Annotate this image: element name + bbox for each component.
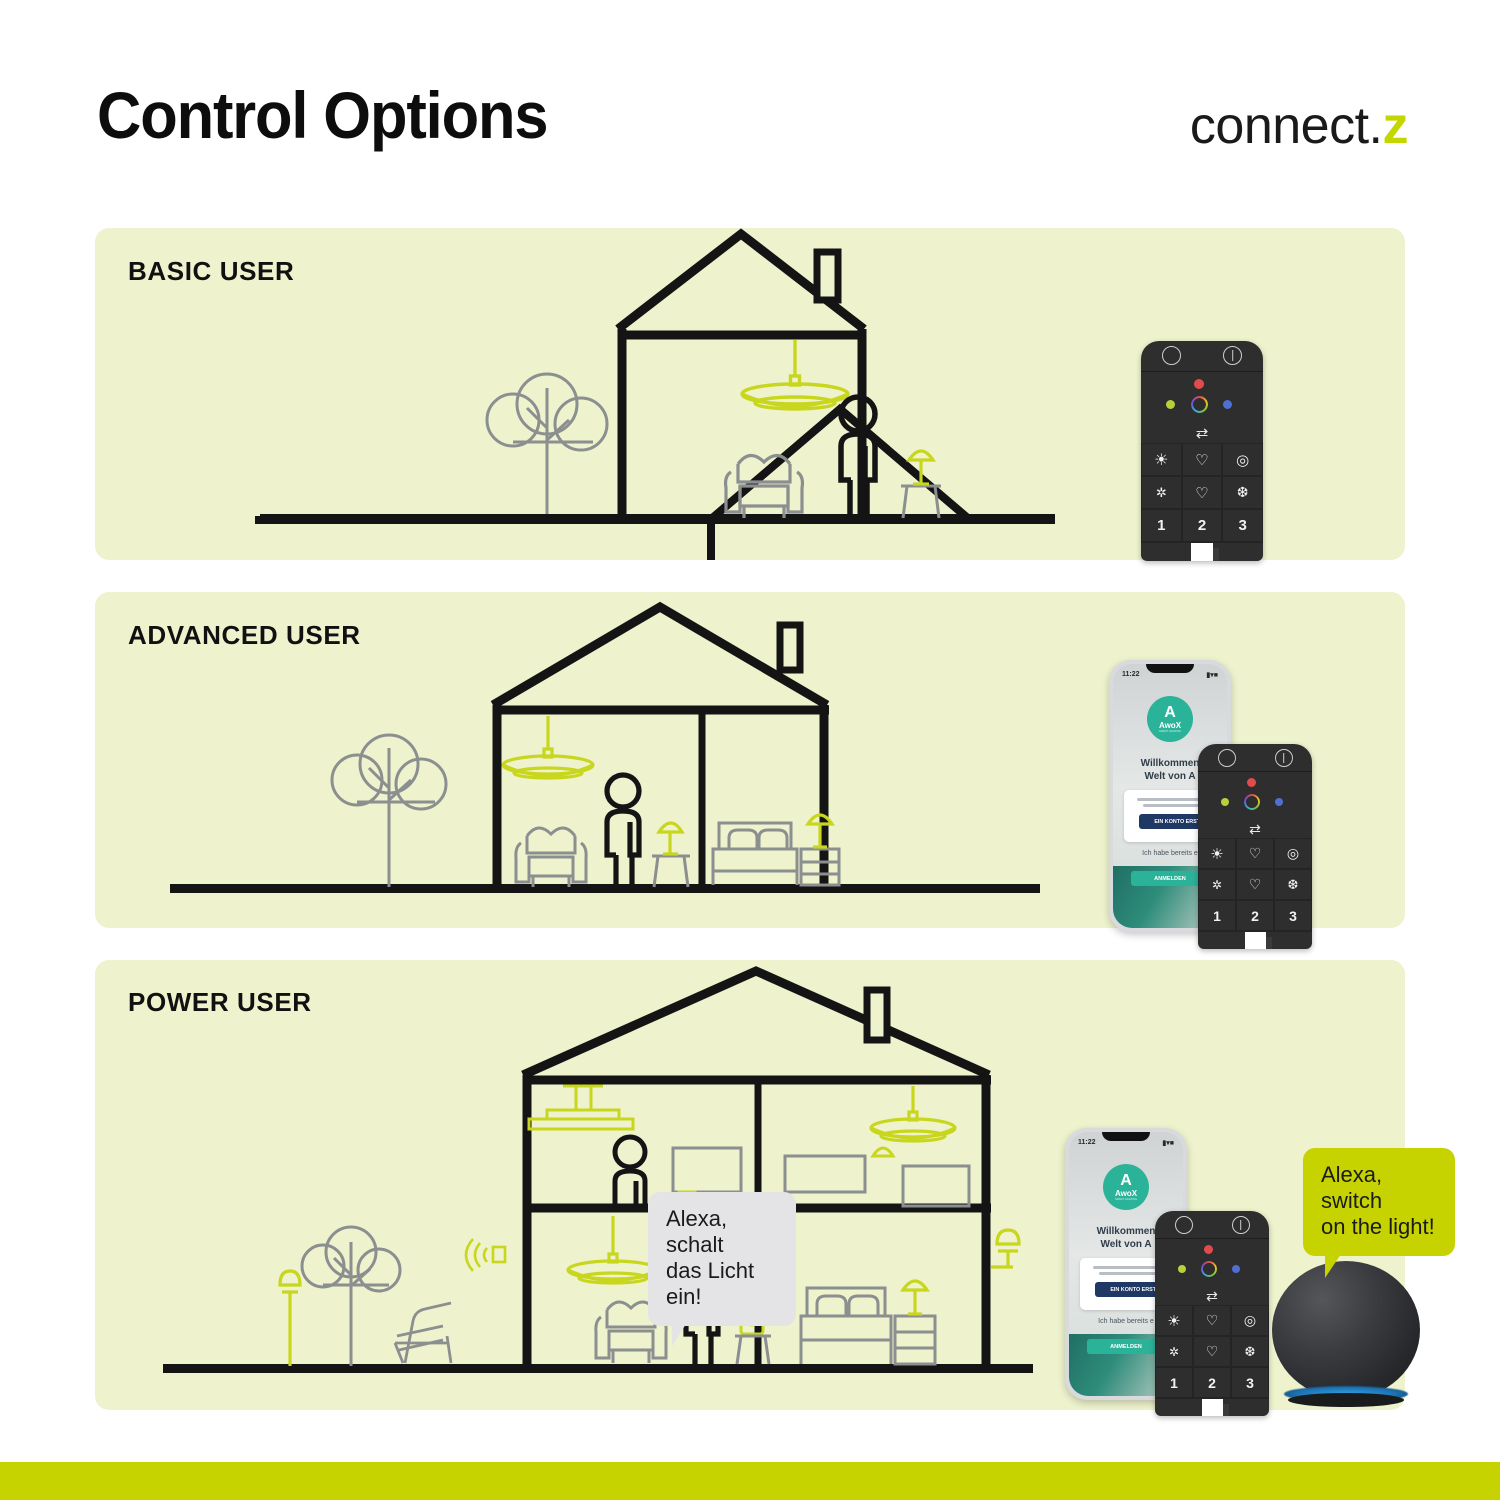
brightness-down-icon[interactable]: ✲ (1141, 476, 1182, 509)
preset-key-1[interactable]: 1 (1198, 900, 1236, 931)
color-dot-blue-icon[interactable] (1232, 1265, 1240, 1273)
speech-bubble-english: Alexa, switch on the light! (1303, 1148, 1455, 1256)
status-time: 11:22 (1078, 1139, 1096, 1147)
preset-key-1[interactable]: 1 (1155, 1367, 1193, 1398)
outdoor-wall-lamp (991, 1230, 1019, 1267)
color-dot-red-icon[interactable] (1194, 379, 1204, 389)
awox-logo-tagline: SMART LIGHTING (1159, 731, 1181, 734)
loop-repeat-icon[interactable]: ⇄ (1198, 820, 1312, 838)
armchair (516, 828, 586, 887)
snowflake-icon[interactable]: ❆ (1274, 869, 1312, 900)
side-table (901, 486, 941, 518)
phone-status-bar: 11:22 ▮▾■ (1069, 1139, 1183, 1147)
section-panel-basic: BASIC USER (95, 228, 1405, 560)
target-circle-icon[interactable]: ◎ (1222, 443, 1263, 476)
phone-status-bar: 11:22 ▮▾■ (1113, 671, 1227, 679)
awox-logo-mark: A (1164, 705, 1176, 721)
status-signal-icon: ▮▾■ (1162, 1139, 1174, 1147)
ceiling-fan-lamp (529, 1086, 633, 1129)
color-dot-red-icon[interactable] (1204, 1245, 1213, 1254)
garden-lamp (280, 1271, 300, 1366)
chimney (867, 990, 887, 1040)
stool (735, 1336, 771, 1364)
remote-top-row (1155, 1211, 1269, 1239)
remote-brand-area (1198, 931, 1312, 949)
section-panel-advanced: ADVANCED USER (95, 592, 1405, 928)
color-wheel-icon[interactable] (1244, 794, 1260, 810)
table-lamp-upper (873, 1148, 893, 1156)
remote-color-dots[interactable] (1141, 372, 1263, 424)
pendant-lamp-upper (871, 1086, 955, 1141)
brand-logo: connect.z (1190, 100, 1408, 152)
snowflake-icon[interactable]: ❆ (1222, 476, 1263, 509)
color-dot-red-icon[interactable] (1247, 778, 1256, 787)
remote-keypad[interactable]: ☀ ♡ ◎ ✲ ♡ ❆ 1 2 3 (1141, 443, 1263, 542)
scene-heart-2-icon[interactable]: ♡ (1236, 869, 1274, 900)
chimney (780, 625, 800, 670)
circle-button-icon[interactable] (1175, 1216, 1193, 1234)
power-button-icon[interactable] (1275, 749, 1293, 767)
echo-dot-base (1288, 1393, 1403, 1407)
tree (302, 1227, 400, 1366)
awox-logo-tagline: SMART LIGHTING (1115, 1199, 1137, 1202)
awox-logo-mark: A (1120, 1173, 1132, 1189)
bed-lower (801, 1288, 891, 1364)
circle-button-icon[interactable] (1218, 749, 1236, 767)
speech-bubble-german: Alexa, schalt das Licht ein! (648, 1192, 796, 1326)
wifi-sensor (466, 1239, 505, 1271)
nightstand-lamp-lower (903, 1281, 927, 1314)
person-upper (615, 1137, 645, 1207)
remote-keypad[interactable]: ☀ ♡ ◎ ✲ ♡ ❆ 1 2 3 (1198, 838, 1312, 931)
side-table (652, 856, 690, 887)
circle-button-icon[interactable] (1162, 346, 1181, 365)
signin-button[interactable]: ANMELDEN (1087, 1339, 1165, 1354)
brightness-up-icon[interactable]: ☀ (1141, 443, 1182, 476)
remote-control[interactable]: ⇄ ☀ ♡ ◎ ✲ ♡ ❆ 1 2 3 (1141, 341, 1263, 561)
tree (332, 735, 446, 887)
scene-heart-1-icon[interactable]: ♡ (1182, 443, 1223, 476)
status-time: 11:22 (1122, 671, 1140, 679)
tv (673, 1148, 741, 1197)
bed (713, 823, 797, 885)
preset-key-2[interactable]: 2 (1193, 1367, 1231, 1398)
awox-square-logo-icon (1191, 543, 1213, 561)
chimney (817, 252, 838, 300)
color-dot-green-icon[interactable] (1221, 798, 1229, 806)
scene-heart-2-icon[interactable]: ♡ (1182, 476, 1223, 509)
brand-logo-accent: z (1383, 97, 1409, 155)
scene-heart-1-icon[interactable]: ♡ (1236, 838, 1274, 869)
brightness-up-icon[interactable]: ☀ (1198, 838, 1236, 869)
remote-top-row (1198, 744, 1312, 772)
remote-color-dots[interactable] (1198, 772, 1312, 820)
echo-dot-speaker[interactable] (1272, 1261, 1420, 1399)
pendant-lamp (742, 340, 848, 409)
section-panel-power: POWER USER (95, 960, 1405, 1410)
preset-key-3[interactable]: 3 (1231, 1367, 1269, 1398)
scene-heart-2-icon[interactable]: ♡ (1193, 1336, 1231, 1367)
bottom-accent-bar (0, 1462, 1500, 1500)
brightness-down-icon[interactable]: ✲ (1155, 1336, 1193, 1367)
table-lamp (909, 451, 933, 484)
snowflake-icon[interactable]: ❆ (1231, 1336, 1269, 1367)
color-dot-green-icon[interactable] (1166, 400, 1175, 409)
ground-strip (170, 884, 1040, 893)
brand-logo-text: connect. (1190, 97, 1383, 155)
color-wheel-icon[interactable] (1191, 396, 1208, 413)
target-circle-icon[interactable]: ◎ (1274, 838, 1312, 869)
target-circle-icon[interactable]: ◎ (1231, 1305, 1269, 1336)
awox-logo-word: AwoX (1115, 1190, 1137, 1198)
preset-key-2[interactable]: 2 (1236, 900, 1274, 931)
person (607, 775, 639, 888)
remote-color-dots[interactable] (1155, 1239, 1269, 1287)
loop-repeat-icon[interactable]: ⇄ (1155, 1287, 1269, 1305)
remote-brand-area (1155, 1398, 1269, 1416)
pendant-lamp-lower (568, 1216, 658, 1283)
nightstand-lower (895, 1316, 935, 1364)
armchair (726, 455, 803, 518)
preset-key-3[interactable]: 3 (1222, 509, 1263, 542)
color-dot-blue-icon[interactable] (1275, 798, 1283, 806)
loop-repeat-icon[interactable]: ⇄ (1141, 423, 1263, 443)
power-button-icon[interactable] (1223, 346, 1242, 365)
remote-brand-area (1141, 542, 1263, 561)
power-button-icon[interactable] (1232, 1216, 1250, 1234)
remote-keypad[interactable]: ☀ ♡ ◎ ✲ ♡ ❆ 1 2 3 (1155, 1305, 1269, 1398)
scene-heart-1-icon[interactable]: ♡ (1193, 1305, 1231, 1336)
remote-top-row (1141, 341, 1263, 372)
color-dot-blue-icon[interactable] (1223, 400, 1232, 409)
ground-strip (260, 514, 1055, 523)
awox-app-logo: A AwoX SMART LIGHTING (1103, 1164, 1149, 1210)
awox-logo-word: AwoX (1159, 722, 1181, 730)
remote-control[interactable]: ⇄ ☀ ♡ ◎ ✲ ♡ ❆ 1 2 3 (1198, 744, 1312, 949)
awox-square-logo-icon (1202, 1399, 1223, 1416)
awox-square-logo-icon (1245, 932, 1266, 949)
echo-dot-body (1272, 1261, 1420, 1399)
infographic-page: Control Options connect.z BASIC USER (0, 0, 1500, 1500)
roof-line (523, 971, 989, 1075)
remote-control[interactable]: ⇄ ☀ ♡ ◎ ✲ ♡ ❆ 1 2 3 (1155, 1211, 1269, 1416)
color-wheel-icon[interactable] (1201, 1261, 1217, 1277)
status-signal-icon: ▮▾■ (1206, 671, 1218, 679)
preset-key-2[interactable]: 2 (1182, 509, 1223, 542)
wardrobe (903, 1166, 969, 1206)
brightness-down-icon[interactable]: ✲ (1198, 869, 1236, 900)
bed-upper (785, 1156, 865, 1192)
awox-app-logo: A AwoX SMART LIGHTING (1147, 696, 1193, 742)
brightness-up-icon[interactable]: ☀ (1155, 1305, 1193, 1336)
preset-key-3[interactable]: 3 (1274, 900, 1312, 931)
page-title: Control Options (97, 82, 547, 148)
lounge-chair (395, 1303, 451, 1363)
table-lamp (659, 823, 682, 854)
color-dot-green-icon[interactable] (1178, 1265, 1186, 1273)
preset-key-1[interactable]: 1 (1141, 509, 1182, 542)
pendant-lamp (503, 716, 593, 778)
